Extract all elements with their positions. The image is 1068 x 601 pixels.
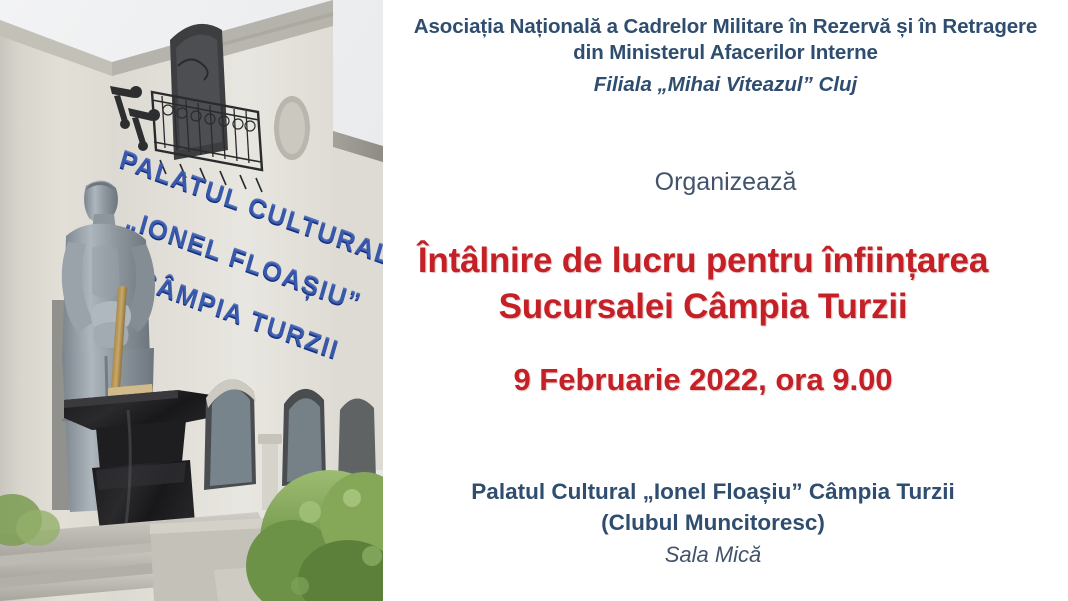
venue-room: Sala Mică [358,538,1068,571]
organization-header: Asociația Națională a Cadrelor Militare … [383,14,1068,100]
venue-line-1: Palatul Cultural „Ionel Floașiu” Câmpia … [358,476,1068,507]
organizes-label: Organizează [383,168,1068,197]
window-glass [176,35,222,150]
venue-line-2: (Clubul Muncitoresc) [358,507,1068,538]
event-title: Întâlnire de lucru pentru înființarea Su… [338,238,1068,330]
event-date-time: 9 Februarie 2022, ora 9.00 [338,362,1068,398]
event-poster: PALATUL CULTURAL PALATUL CULTURAL „IONEL… [0,0,1068,601]
event-venue: Palatul Cultural „Ionel Floașiu” Câmpia … [358,476,1068,571]
oval-window-inner [279,102,305,154]
org-line-2: din Ministerul Afacerilor Interne [383,40,1068,66]
org-branch: Filiala „Mihai Viteazul” Cluj [383,66,1068,100]
org-line-1: Asociația Națională a Cadrelor Militare … [383,14,1068,40]
poster-content: Asociația Națională a Cadrelor Militare … [383,0,1068,601]
building-photo: PALATUL CULTURAL PALATUL CULTURAL „IONEL… [0,0,383,601]
event-title-line-1: Întâlnire de lucru pentru înființarea [338,238,1068,284]
building-photo-illustration: PALATUL CULTURAL PALATUL CULTURAL „IONEL… [0,0,383,601]
pilaster-capital [258,434,282,444]
event-title-line-2: Sucursalei Câmpia Turzii [338,284,1068,330]
